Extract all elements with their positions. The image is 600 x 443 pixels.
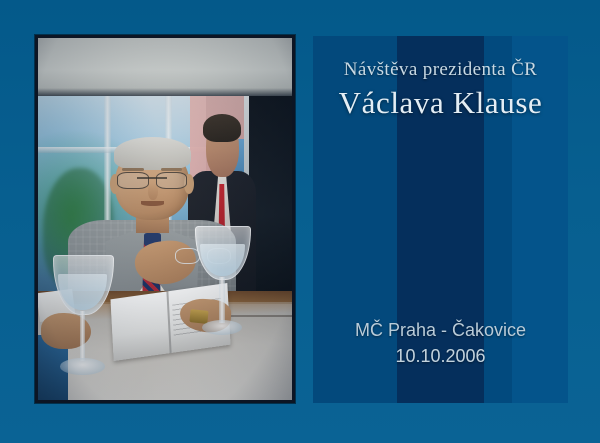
photo-frame [35, 35, 295, 403]
glass-foot [60, 358, 104, 375]
title-block: Návštěva prezidenta ČR Václava Klause [323, 58, 558, 123]
location-label: MČ Praha - Čakovice [323, 317, 558, 343]
klaus-nose [148, 183, 158, 200]
wine-glass-foreground [53, 255, 111, 374]
footer-block: MČ Praha - Čakovice 10.10.2006 [323, 317, 558, 369]
slide-canvas: Návštěva prezidenta ČR Václava Klause MČ… [0, 0, 600, 443]
background-man-hair [203, 114, 241, 142]
president-visit-photograph [38, 38, 292, 400]
caption-panel: Návštěva prezidenta ČR Václava Klause MČ… [313, 36, 568, 403]
caption-content: Návštěva prezidenta ČR Václava Klause MČ… [313, 36, 568, 403]
klaus-grey-hair [114, 137, 191, 170]
klaus-eyebrow-right [161, 168, 183, 171]
eyeglasses-bridge [137, 177, 167, 179]
page-title: Václava Klause [323, 83, 558, 123]
page-title-subtitle: Návštěva prezidenta ČR [323, 58, 558, 82]
klaus-mouth [141, 201, 164, 205]
glass-foot [202, 320, 243, 335]
date-label: 10.10.2006 [323, 343, 558, 369]
ceiling-band [38, 38, 292, 96]
wine-glass-second [195, 226, 248, 335]
glass-stem [80, 311, 86, 361]
glass-stem [219, 277, 224, 323]
klaus-eyebrow-left [122, 168, 144, 171]
